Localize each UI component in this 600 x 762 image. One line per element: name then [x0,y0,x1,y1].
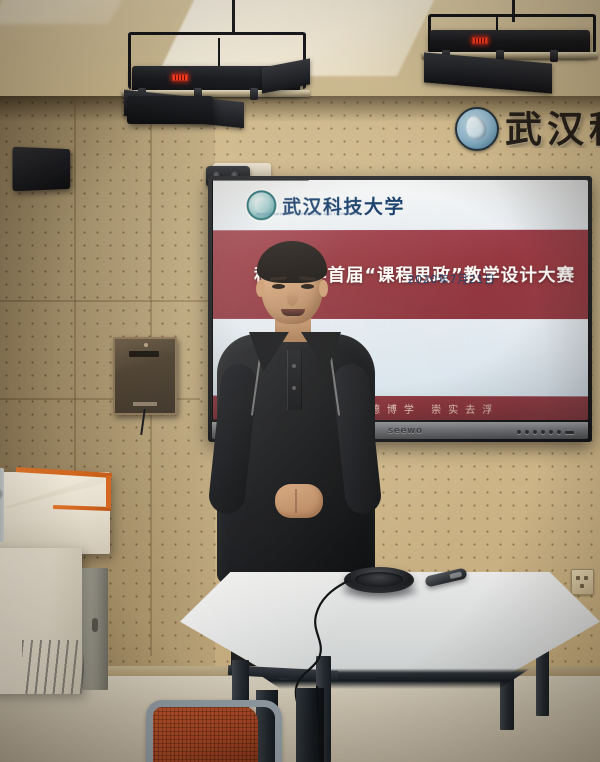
presenter-eye [301,284,314,289]
display-button[interactable] [557,430,561,434]
presenter-hair [257,241,327,283]
display-button[interactable] [525,430,529,434]
wall-control-box[interactable] [113,337,177,415]
display-button[interactable] [549,430,553,434]
shirt-button [292,364,296,368]
university-logo: 武汉科技大学 WUHAN UNIVERSITY OF SCIENCE AND T… [246,190,404,220]
display-button[interactable] [533,430,537,434]
wall-speaker-upper [127,96,213,124]
rail-clip [550,50,558,62]
presenter-clasped-hands [275,484,323,518]
socket-pin [584,576,588,580]
display-control-buttons[interactable] [517,430,574,434]
slide-header: 武汉科技大学 WUHAN UNIVERSITY OF SCIENCE AND T… [213,180,588,231]
socket-pin [580,584,584,588]
display-power-button[interactable] [565,431,574,434]
socket-pin [576,576,580,580]
university-emblem-icon [455,107,499,151]
shirt-placket [287,350,302,410]
mesh-chair[interactable] [150,700,270,762]
control-box-indicator [144,343,148,347]
wall-sign-text: 武汉科 [505,111,600,148]
chair-frame [146,700,282,762]
lectern-top[interactable] [0,472,110,554]
lectern-speaker [0,468,4,542]
presenter-ear [256,280,265,297]
presenter-mouth [281,309,305,316]
lectern-handle[interactable] [92,618,98,632]
conference-speakerphone[interactable] [344,567,414,593]
presenter-nose [287,291,298,306]
display-button[interactable] [541,430,545,434]
control-box-slot [129,351,159,357]
light-status-led [472,37,488,44]
lectern-vent-grille [22,640,84,694]
slide-date: 2020年7月21日 [408,271,496,287]
display-button[interactable] [517,430,521,434]
lectern-accent-stripe [106,476,111,508]
presenter-eye [272,284,285,289]
university-logo-subtext: WUHAN UNIVERSITY OF SCIENCE AND TECHNOLO… [257,212,362,216]
rail-clip [250,88,258,100]
light-status-led [172,74,188,81]
lectern-desk-surface [2,474,106,508]
classroom-photo: 武汉科 [0,0,600,762]
wall-university-sign: 武汉科 [455,98,600,160]
control-box-label [133,402,157,406]
wall-power-socket[interactable] [571,569,594,595]
display-brand-label: seewo [388,426,423,436]
wall-speaker-left [12,147,70,192]
light-mount-rod [232,0,235,34]
presenter-ear [319,280,328,297]
shirt-button [292,386,296,390]
